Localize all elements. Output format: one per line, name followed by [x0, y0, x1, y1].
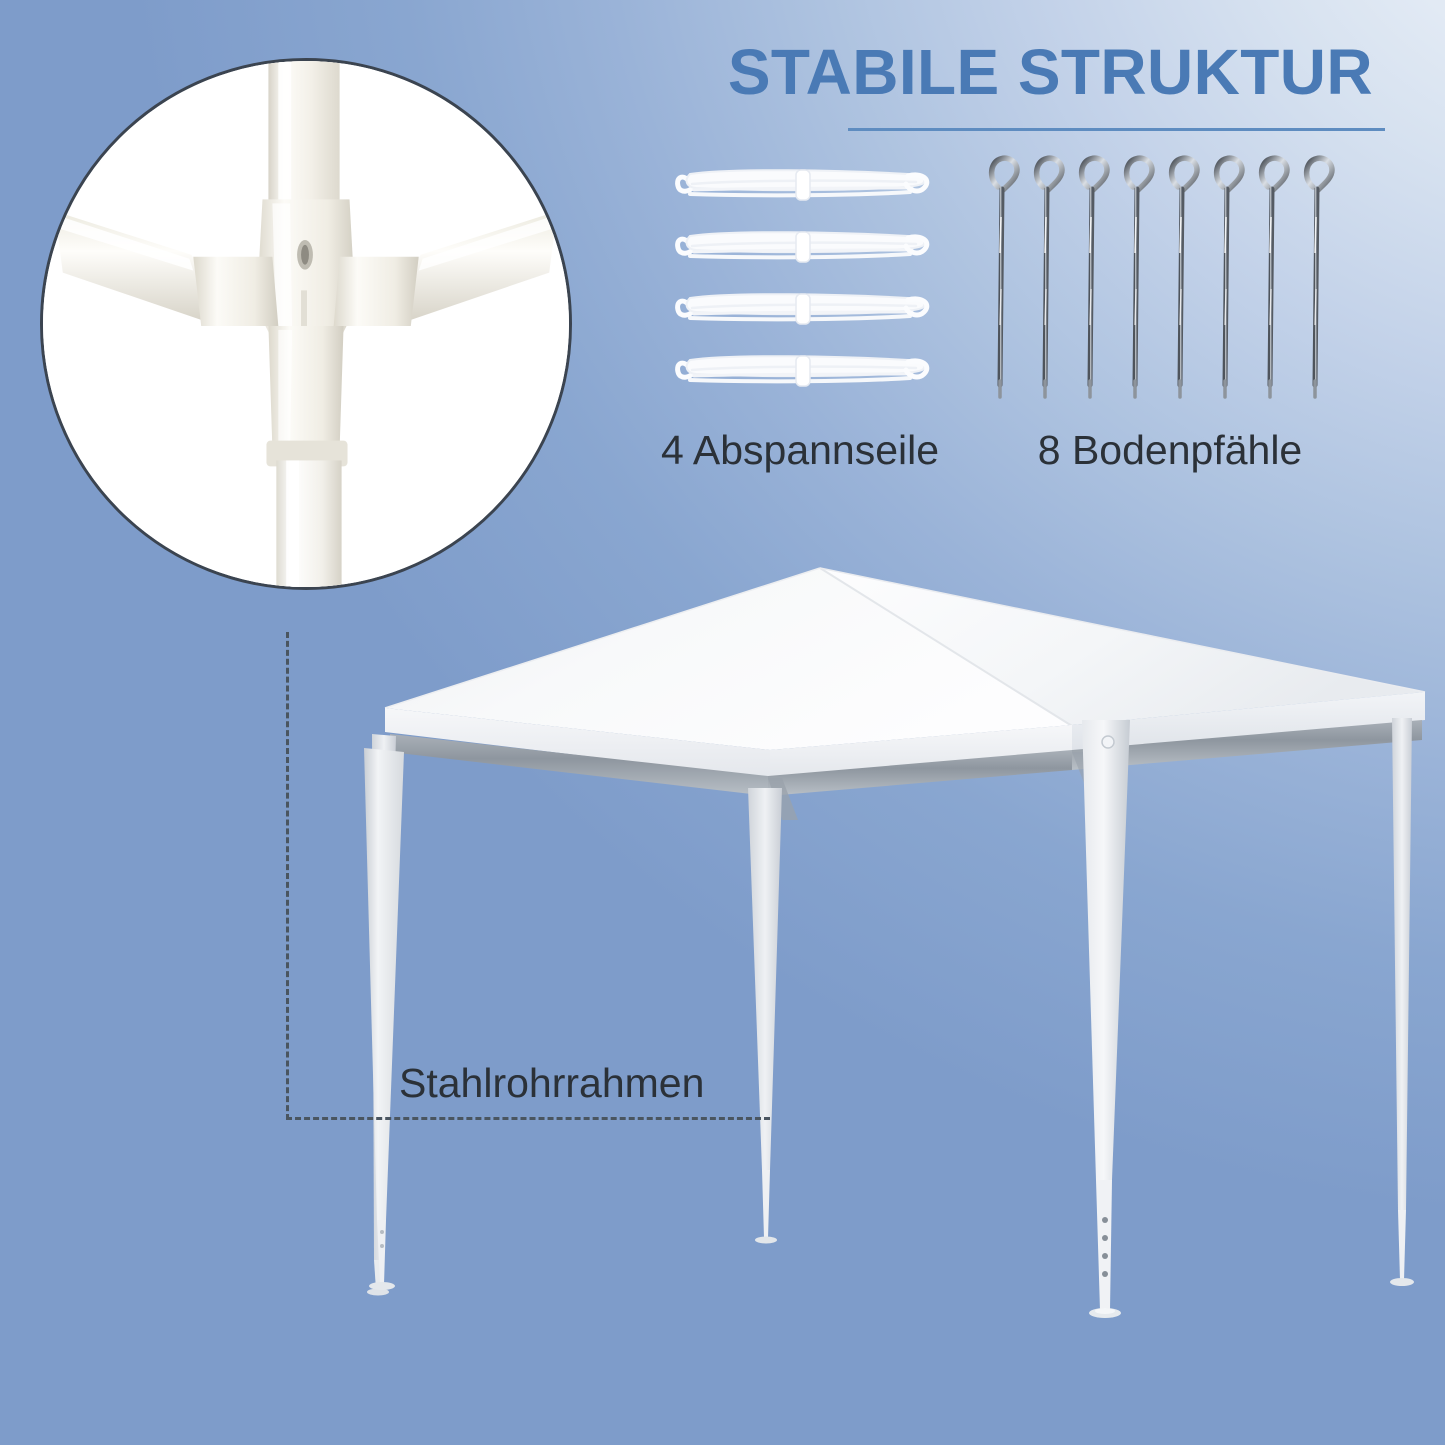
joint-lower-pole — [276, 460, 341, 587]
gazebo-product-image — [330, 520, 1445, 1350]
accessory-label-stakes: 8 Bodenpfähle — [985, 427, 1355, 474]
corner-joint-closeup — [40, 58, 572, 590]
accessory-label-ropes: 4 Abspannseile — [620, 427, 980, 474]
rope-coil-icon — [660, 158, 940, 408]
title-divider — [848, 128, 1385, 131]
gazebo-leg-front-right — [1082, 720, 1130, 1318]
callout-label-frame: Stahlrohrrahmen — [399, 1060, 704, 1107]
gazebo-leg-front-left — [364, 748, 404, 1290]
title-block: STABILE STRUKTUR — [640, 40, 1385, 131]
page-title: STABILE STRUKTUR — [640, 40, 1385, 104]
callout-leader-horizontal — [286, 1117, 770, 1120]
callout-leader-vertical — [286, 632, 289, 1120]
joint-upper-pole — [268, 61, 339, 215]
gazebo-leg-center — [748, 788, 782, 1244]
infographic-canvas: STABILE STRUKTUR — [0, 0, 1445, 1445]
ground-stake-icon — [985, 145, 1355, 415]
joint-lower-stem — [268, 326, 343, 449]
gazebo-leg-right — [1390, 718, 1414, 1286]
